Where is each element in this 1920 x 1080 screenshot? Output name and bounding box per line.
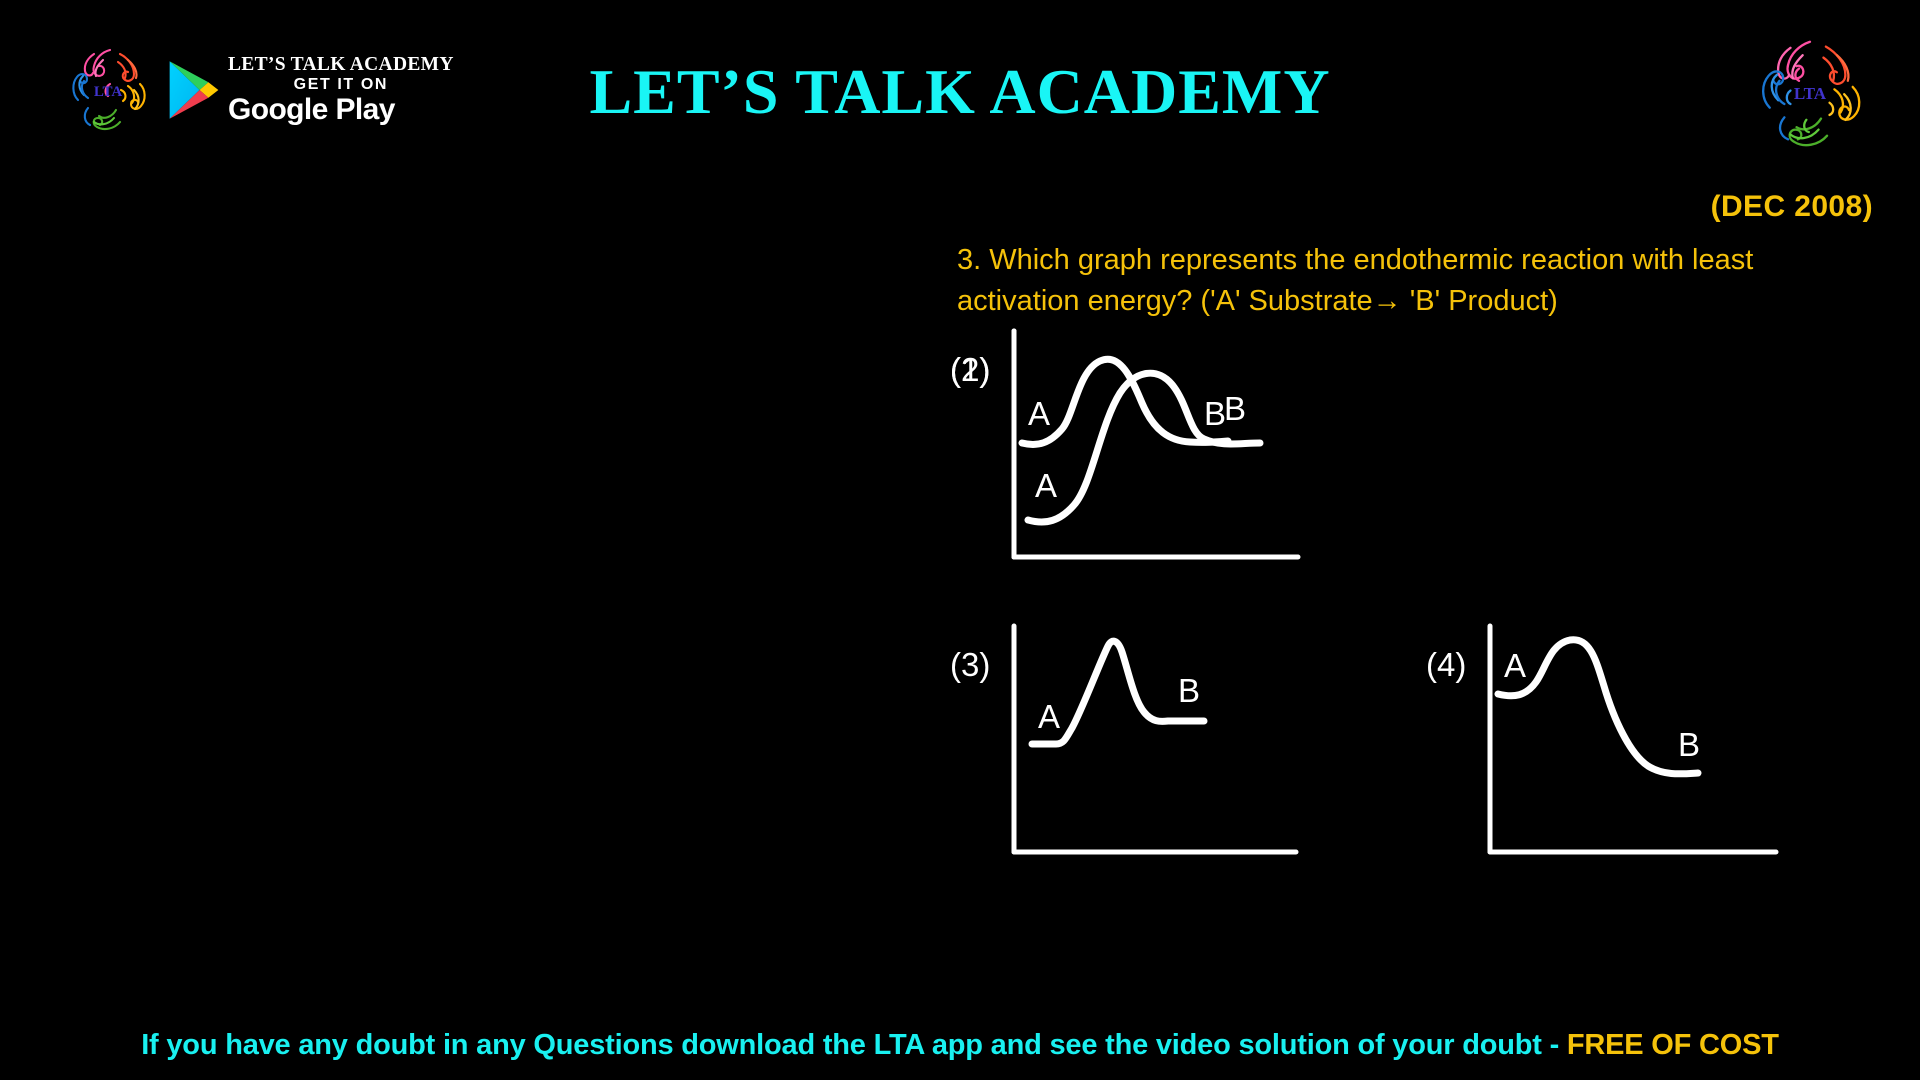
exam-date-badge: (DEC 2008) (1711, 190, 1873, 224)
option-2-label: (2) (950, 353, 990, 386)
footer-highlight-text: FREE OF COST (1567, 1029, 1779, 1061)
option-3[interactable]: (3) A B (950, 620, 1420, 870)
option-2[interactable]: (2) A B (950, 325, 1420, 575)
option-4-label-B: B (1678, 726, 1700, 763)
svg-text:LTA: LTA (1794, 84, 1827, 103)
footer-main-text: If you have any doubt in any Questions d… (141, 1029, 1567, 1061)
option-2-label-B: B (1204, 395, 1226, 432)
question-text: 3. Which graph represents the endothermi… (957, 240, 1882, 322)
option-3-label-B: B (1178, 672, 1200, 709)
option-2-curve (1022, 359, 1228, 444)
option-4-energy-diagram: A B (1484, 620, 1884, 865)
slide-root: LTA LET’S TALK ACADEMY GET IT O (0, 0, 1920, 1080)
slide-header: LTA LET’S TALK ACADEMY GET IT O (0, 0, 1920, 175)
lta-protein-ribbon-logo-icon-right: LTA (1745, 32, 1875, 154)
option-3-label-A: A (1038, 698, 1060, 735)
option-3-label: (3) (950, 648, 990, 681)
option-3-energy-diagram: A B (1008, 620, 1408, 865)
option-4-label-A: A (1504, 647, 1526, 684)
option-2-label-A: A (1028, 395, 1050, 432)
option-4-curve (1498, 640, 1698, 774)
answer-options-grid: (1) A B (2) A B (950, 325, 1900, 920)
option-4-label: (4) (1426, 648, 1466, 681)
footer-promo: If you have any doubt in any Questions d… (0, 1029, 1920, 1062)
option-4[interactable]: (4) A B (1426, 620, 1896, 870)
option-2-energy-diagram: A B (1008, 325, 1408, 570)
page-title: LET’S TALK ACADEMY (0, 60, 1920, 124)
